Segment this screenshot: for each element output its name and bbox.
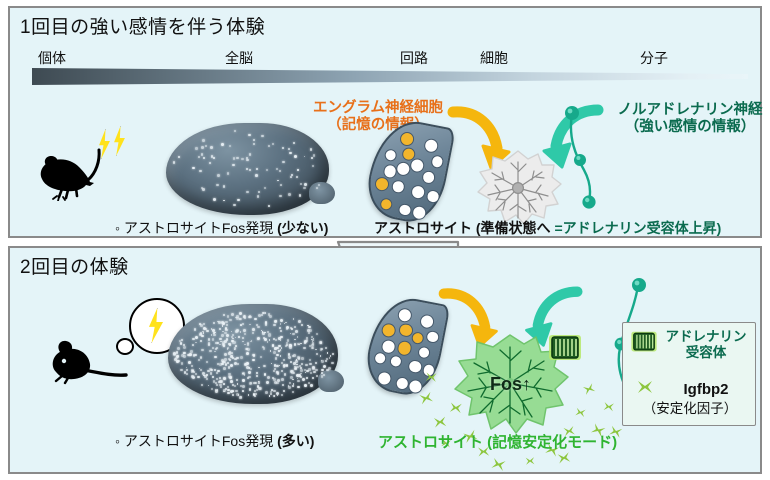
adrenaline-receptor-icon [629, 329, 661, 360]
mouse-brain-low-fos [166, 123, 329, 215]
panel2-astro-mode-label: アストロサイト (記憶安定化モード) [378, 431, 617, 452]
legend-receptor-line2: 受容体 [661, 345, 751, 361]
igfbp2-marker [524, 454, 537, 467]
fos-level-tag: Fos↑ [490, 374, 531, 395]
receptor-barrel-glyph [629, 329, 659, 355]
igfbp2-marker [416, 388, 436, 408]
panel1-astro-note: アストロサイト (準備状態へ =アドレナリン受容体上昇) [374, 218, 721, 238]
bullet-marker: ◦ [115, 220, 120, 236]
scale-label-cell: 細胞 [480, 48, 508, 68]
panel-first-experience: 1回目の強い感情を伴う体験 個体 全脳 回路 細胞 分子 [8, 6, 762, 238]
legend-igfbp2-sub: （安定化因子） [627, 401, 753, 417]
panel2-fos-note: ◦ アストロサイトFos発現 (多い) [115, 431, 314, 451]
igfbp2-marker-icon [629, 377, 661, 402]
scale-gradient-wedge [32, 68, 748, 85]
bullet-marker: ◦ [115, 433, 120, 449]
igfbp2-marker [488, 454, 509, 475]
figure-canvas: 1回目の強い感情を伴う体験 個体 全脳 回路 細胞 分子 [0, 0, 770, 480]
panel2-fos-note-value: (多い) [277, 433, 314, 449]
scale-label-circuit: 回路 [400, 48, 428, 68]
panel-second-experience: 2回目の体験 [8, 246, 762, 474]
panel1-astro-note-green: =アドレナリン受容体上昇) [554, 220, 721, 236]
x-marker-glyph [635, 377, 655, 397]
legend-box: アドレナリン 受容体 Igfbp2 （安定化因子） [622, 322, 756, 426]
scale-label-whole-brain: 全脳 [225, 48, 253, 68]
panel2-fos-note-text: アストロサイトFos発現 [124, 433, 273, 449]
scale-label-individual: 個体 [38, 48, 66, 68]
legend-row-receptor: アドレナリン 受容体 [629, 329, 751, 360]
igfbp2-marker [447, 399, 464, 416]
legend-receptor-line1: アドレナリン [661, 329, 751, 345]
na-label-line2: （強い感情の情報） [604, 119, 770, 136]
engram-label-line1: エングラム神経細胞 [294, 100, 462, 117]
igfbp2-marker [431, 413, 449, 431]
igfbp2-marker [573, 405, 588, 420]
mouse-brain-high-fos [168, 304, 338, 404]
fos-positive-cell-dots [168, 304, 338, 404]
igfbp2-marker [580, 380, 598, 398]
astrocyte-resting [472, 148, 564, 228]
na-label-line1: ノルアドレナリン神経 [604, 102, 770, 119]
panel1-fos-note-text: アストロサイトFos発現 [124, 220, 273, 236]
scale-axis-labels: 個体 全脳 回路 細胞 分子 [10, 48, 760, 68]
mouse-sitting-silhouette-icon [40, 328, 132, 388]
fos-positive-cell-dots [166, 123, 329, 215]
igfbp2-marker [423, 369, 439, 385]
panel2-title: 2回目の体験 [20, 252, 129, 279]
panel1-astro-note-black: アストロサイト (準備状態へ [374, 220, 551, 236]
panel1-fos-note-value: (少ない) [277, 220, 328, 236]
panel1-title: 1回目の強い感情を伴う体験 [20, 12, 265, 39]
astrocyte-shape [472, 148, 564, 228]
panel1-fos-note: ◦ アストロサイトFos発現 (少ない) [115, 218, 328, 238]
scale-label-molecule: 分子 [640, 48, 668, 68]
thought-bubble-tail [116, 338, 134, 355]
noradrenaline-label: ノルアドレナリン神経 （強い感情の情報） [604, 102, 770, 136]
receptor-barrel-glyph [546, 332, 584, 364]
legend-igfbp2-label: Igfbp2 [661, 381, 751, 398]
adrenaline-receptor-icon-on-astrocyte [546, 332, 584, 369]
legend-row-igfbp2: Igfbp2 [629, 377, 751, 402]
